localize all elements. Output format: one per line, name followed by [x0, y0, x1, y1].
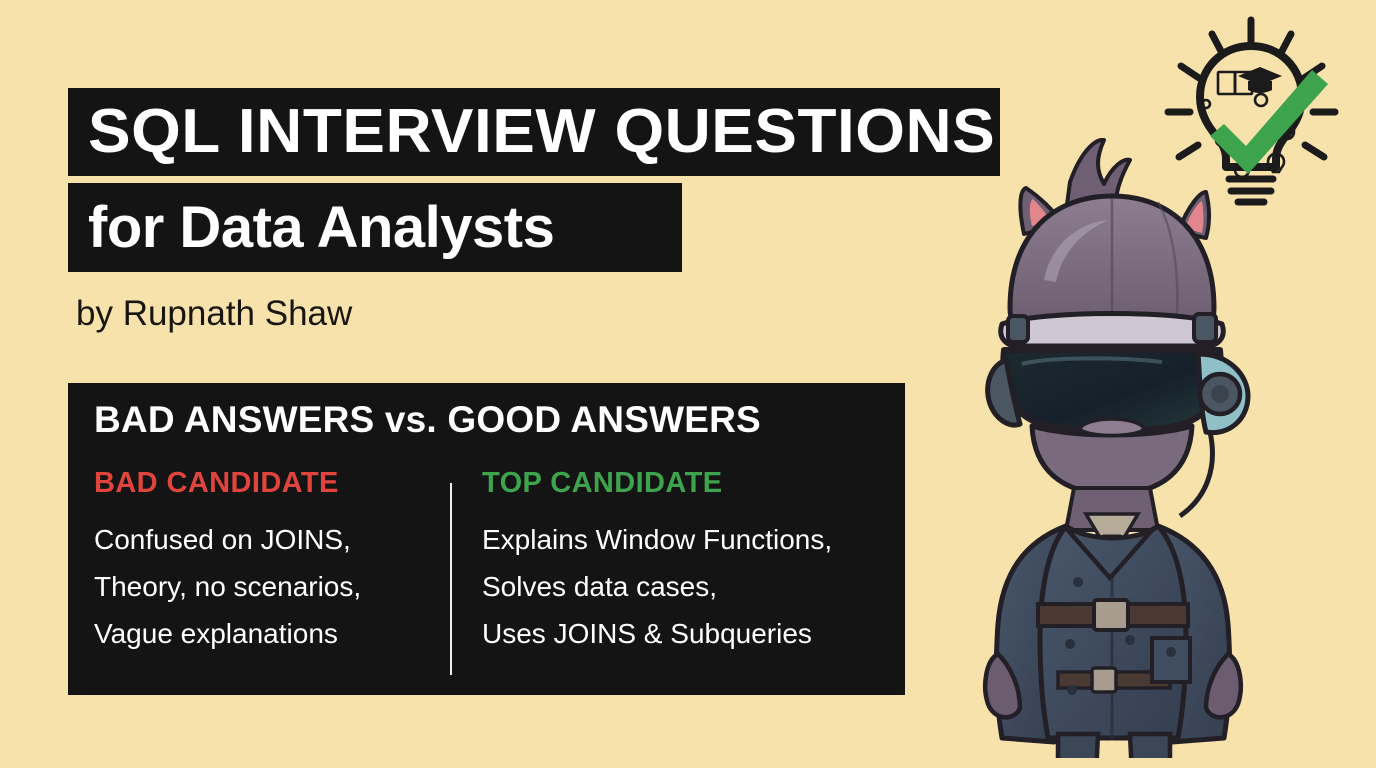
leg-right: [1130, 734, 1170, 758]
coat-button: [1125, 635, 1135, 645]
detective-cat-mascot: [962, 138, 1292, 758]
top-candidate-line: Uses JOINS & Subqueries: [482, 610, 892, 657]
belt-buckle: [1094, 600, 1128, 630]
bad-candidate-line: Theory, no scenarios,: [94, 563, 494, 610]
top-candidate-line: Solves data cases,: [482, 563, 892, 610]
coat-button: [1073, 577, 1083, 587]
bad-candidate-line: Vague explanations: [94, 610, 494, 657]
coat-pocket: [1152, 638, 1190, 682]
top-candidate-title: TOP CANDIDATE: [482, 467, 892, 500]
helmet-brim: [1001, 314, 1224, 347]
leg-left: [1058, 734, 1098, 758]
helmet-side-mount: [1194, 314, 1216, 342]
coat-button: [1067, 685, 1077, 695]
helmet-side-mount-left: [1008, 316, 1028, 342]
comparison-heading: BAD ANSWERS vs. GOOD ANSWERS: [94, 399, 761, 441]
top-candidate-column: TOP CANDIDATE Explains Window Functions,…: [482, 467, 892, 657]
poster-canvas: SQL INTERVIEW QUESTIONS for Data Analyst…: [0, 0, 1376, 768]
bad-candidate-column: BAD CANDIDATE Confused on JOINS, Theory,…: [94, 467, 494, 657]
title-banner-primary: SQL INTERVIEW QUESTIONS: [68, 88, 1000, 176]
author-byline: by Rupnath Shaw: [76, 294, 352, 334]
nose-guard: [1080, 419, 1144, 436]
page-title-line-1: SQL INTERVIEW QUESTIONS: [88, 101, 995, 163]
bad-candidate-line: Confused on JOINS,: [94, 516, 494, 563]
coat-button: [1065, 639, 1075, 649]
coat-button: [1166, 647, 1176, 657]
top-candidate-line: Explains Window Functions,: [482, 516, 892, 563]
comparison-panel: BAD ANSWERS vs. GOOD ANSWERS BAD CANDIDA…: [68, 383, 905, 695]
page-title-line-2: for Data Analysts: [88, 199, 554, 257]
bad-candidate-title: BAD CANDIDATE: [94, 467, 494, 500]
belt-buckle-lower: [1092, 668, 1116, 692]
title-banner-secondary: for Data Analysts: [68, 183, 682, 272]
